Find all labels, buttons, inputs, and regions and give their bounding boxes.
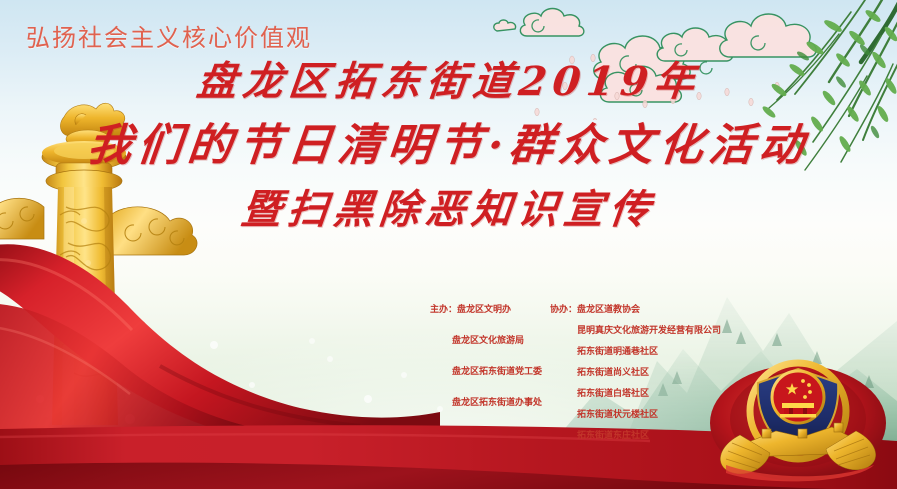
title-line-2: 我们的节日清明节·群众文化活动 (0, 124, 897, 168)
cohost-column: 协办：盘龙区道教协会 昆明真庆文化旅游开发经营有限公司 拓东街道明通巷社区 拓东… (550, 306, 765, 453)
cohost-row: 拓东街道白塔社区 (550, 390, 765, 399)
cohost-row: 协办：盘龙区道教协会 (550, 306, 765, 315)
title-line-3: 暨扫黑除恶知识宣传 (0, 190, 897, 230)
poster-title: 盘龙区拓东街道2019年 我们的节日清明节·群众文化活动 暨扫黑除恶知识宣传 (0, 62, 897, 230)
cohost-row: 拓东街道尚义社区 (550, 369, 765, 378)
cohost-row: 拓东街道明通巷社区 (550, 348, 765, 357)
red-silk-ribbon (0, 230, 440, 460)
title-line-1: 盘龙区拓东街道2019年 (0, 62, 897, 102)
leaf-branch-icon (0, 231, 430, 461)
cohost-row: 拓东街道状元楼社区 (550, 411, 765, 420)
huabiao-column-icon (0, 95, 207, 425)
cohost-row: 拓东街道东庄社区 (550, 432, 765, 441)
core-values-slogan: 弘扬社会主义核心价值观 (26, 18, 312, 53)
poster-canvas: 弘扬社会主义核心价值观 盘龙区拓东街道2019年 我们的节日清明节·群众文化活动… (0, 0, 897, 489)
auspicious-cloud-icon (477, 0, 897, 120)
cohost-row: 昆明真庆文化旅游开发经营有限公司 (550, 327, 765, 336)
willow-branch-icon (733, 0, 897, 190)
